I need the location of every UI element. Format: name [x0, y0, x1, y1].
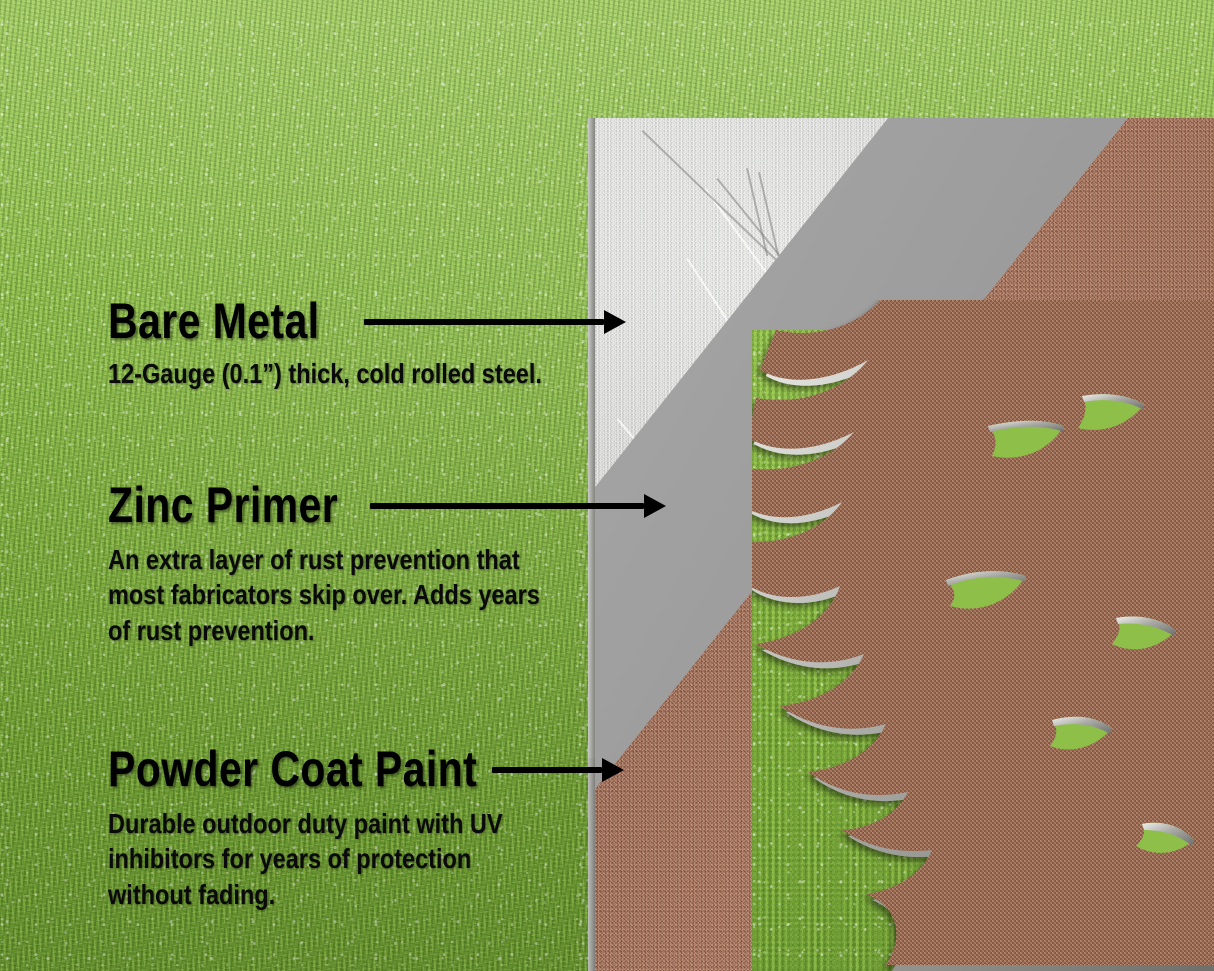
- diagram-canvas: Bare Metal 12-Gauge (0.1”) thick, cold r…: [0, 0, 1214, 971]
- callout-body-powder-coat: Durable outdoor duty paint with UV inhib…: [108, 806, 503, 912]
- callout-body-bare-metal: 12-Gauge (0.1”) thick, cold rolled steel…: [108, 356, 545, 391]
- panel-left-rim-lower: [588, 758, 595, 971]
- arrow-to-bare-metal: [364, 310, 626, 334]
- arrow-to-zinc-primer: [370, 494, 666, 518]
- arrow-head: [644, 494, 666, 518]
- cut-panel-body: [752, 300, 1214, 971]
- arrow-shaft: [492, 767, 602, 773]
- arrow-shaft: [364, 319, 604, 325]
- arrow-shaft: [370, 503, 644, 509]
- decorative-cut-panel: [752, 300, 1214, 971]
- arrow-head: [604, 310, 626, 334]
- arrow-to-powder-coat: [492, 758, 624, 782]
- arrow-head: [602, 758, 624, 782]
- callout-title-powder-coat: Powder Coat Paint: [108, 744, 493, 794]
- callout-body-zinc-primer: An extra layer of rust prevention that m…: [108, 542, 545, 648]
